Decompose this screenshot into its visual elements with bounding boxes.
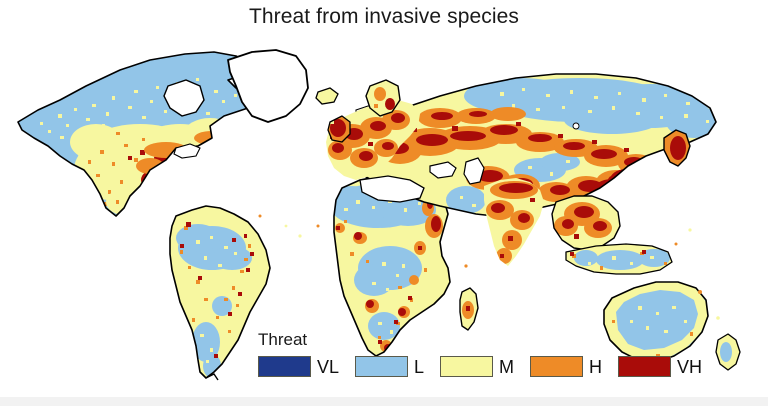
legend-items: VL L M H VH	[258, 356, 702, 377]
figure-container: Threat from invasive species	[0, 0, 768, 406]
legend-item-very-low[interactable]: VL	[258, 356, 339, 377]
caspian-sea	[464, 158, 484, 184]
legend: Threat VL L M H VH	[258, 330, 678, 390]
legend-label-high: H	[589, 358, 602, 376]
legend-item-high[interactable]: H	[530, 356, 602, 377]
legend-label-very-high: VH	[677, 358, 702, 376]
legend-swatch-very-low	[258, 356, 311, 377]
legend-title: Threat	[258, 330, 307, 350]
page-title: Threat from invasive species	[0, 5, 768, 29]
bottom-strip	[0, 397, 768, 406]
legend-swatch-low	[355, 356, 408, 377]
legend-item-medium[interactable]: M	[440, 356, 514, 377]
legend-item-low[interactable]: L	[355, 356, 424, 377]
legend-item-very-high[interactable]: VH	[618, 356, 702, 377]
legend-swatch-medium	[440, 356, 493, 377]
legend-swatch-very-high	[618, 356, 671, 377]
legend-label-low: L	[414, 358, 424, 376]
legend-label-medium: M	[499, 358, 514, 376]
legend-swatch-high	[530, 356, 583, 377]
legend-label-very-low: VL	[317, 358, 339, 376]
